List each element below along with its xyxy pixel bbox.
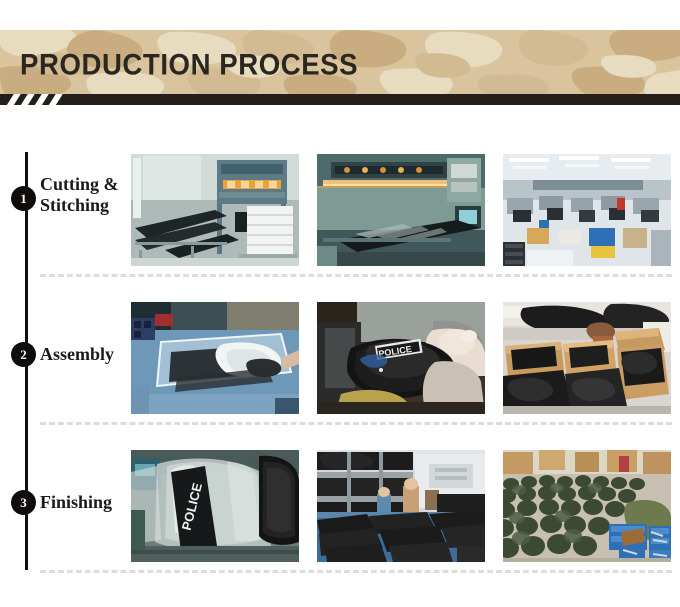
process-step-row: 1 Cutting & Stitching <box>0 154 680 266</box>
thumbnail-cutting-machine-and-fabric-stacks[interactable] <box>131 154 299 266</box>
step-label-3: Finishing <box>40 492 128 513</box>
thumbnail-boxes-of-black-components[interactable] <box>503 302 671 414</box>
thumbnail-heat-press-laminating-machine[interactable] <box>317 154 485 266</box>
step-label-1: Cutting & Stitching <box>40 174 128 216</box>
row-divider <box>40 570 672 573</box>
step-number: 1 <box>20 191 27 207</box>
thumbnail-sewing-workshop-floor[interactable] <box>503 154 671 266</box>
process-step-row: 3 Finishing POLICE <box>0 450 680 562</box>
step-badge-1: 1 <box>11 186 36 211</box>
thumbnail-warehouse-sorting-tactical-gear[interactable] <box>317 450 485 562</box>
stripe-slash-icon <box>46 94 65 105</box>
row-divider <box>40 422 672 425</box>
step-number: 3 <box>20 495 27 511</box>
page-title: PRODUCTION PROCESS <box>20 48 358 82</box>
row-divider <box>40 274 672 277</box>
step-badge-3: 3 <box>11 490 36 515</box>
step-number: 2 <box>20 347 27 363</box>
step-thumbnails-2: POLICE <box>131 302 671 414</box>
process-step-row: 2 Assembly <box>0 302 680 414</box>
thumbnail-helmet-shells-on-blue-table[interactable] <box>131 302 299 414</box>
step-badge-2: 2 <box>11 342 36 367</box>
production-process-page: PRODUCTION PROCESS 1 Cutting & Stitching <box>0 0 680 607</box>
thumbnail-green-helmets-and-hardware-crates[interactable] <box>503 450 671 562</box>
step-label-2: Assembly <box>40 344 128 365</box>
step-thumbnails-1 <box>131 154 671 266</box>
thumbnail-worker-assembling-police-helmet[interactable]: POLICE <box>317 302 485 414</box>
header-banner: PRODUCTION PROCESS <box>0 30 680 102</box>
step-thumbnails-3: POLICE <box>131 450 671 562</box>
thumbnail-wrapped-police-riot-shield[interactable]: POLICE <box>131 450 299 562</box>
banner-stripe-bar <box>0 94 680 105</box>
